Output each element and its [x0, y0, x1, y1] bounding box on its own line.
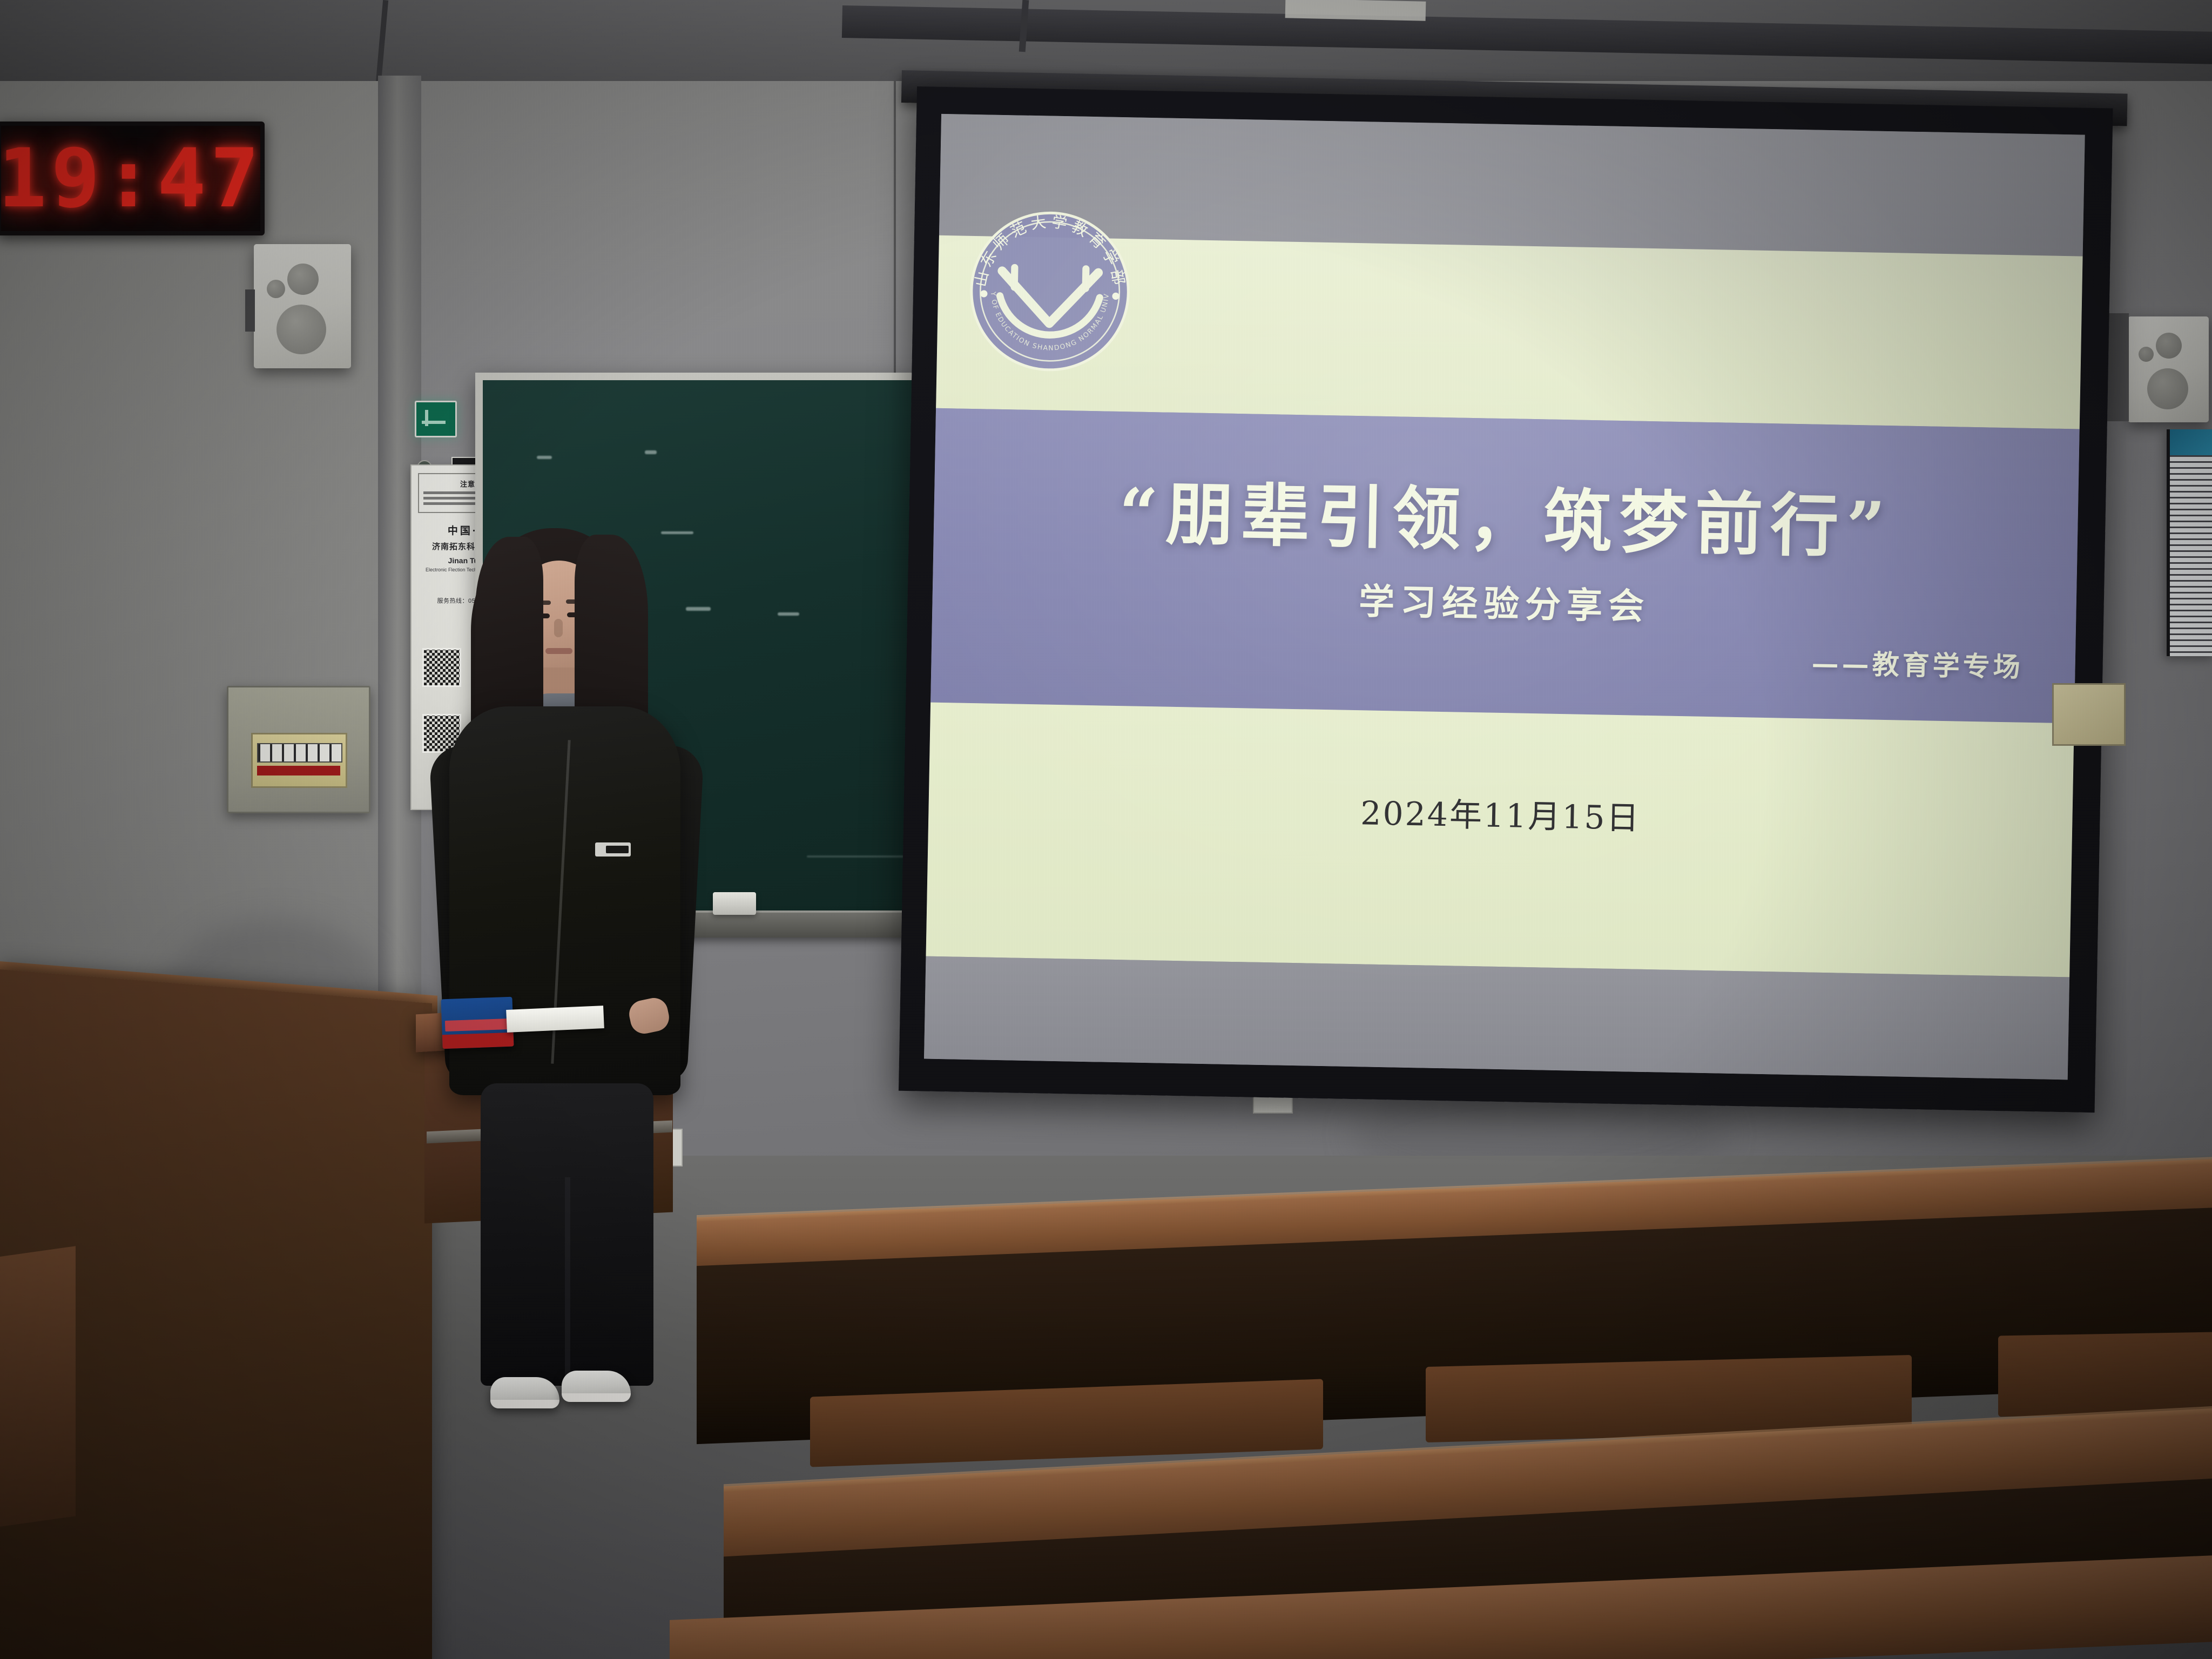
- chalk-mark: [807, 855, 904, 858]
- blue-red-box[interactable]: [441, 997, 514, 1049]
- chalk-mark: [645, 450, 657, 454]
- speaker-driver-woofer: [276, 305, 326, 354]
- breaker-window: [251, 733, 347, 788]
- presenter-mouth: [545, 648, 572, 654]
- speaker-bracket: [245, 289, 255, 332]
- projector-screen: 山东师范大学教育学部 FACULTY OF EDUCATION SHANDONG…: [899, 86, 2113, 1112]
- presenter-shoe-left: [490, 1377, 559, 1408]
- presenter-nose: [554, 619, 563, 637]
- slide-attribution: ——教育学专场: [1811, 642, 2024, 685]
- side-desk: [0, 1246, 76, 1529]
- speaker-driver-tweeter: [267, 280, 285, 298]
- trouser-seam: [565, 1177, 570, 1388]
- projected-slide: 山东师范大学教育学部 FACULTY OF EDUCATION SHANDONG…: [924, 114, 2085, 1080]
- notice-header-banner: [2170, 429, 2212, 455]
- digital-wall-clock: 19:47: [0, 122, 265, 235]
- speaker-driver-tweeter: [2139, 347, 2154, 362]
- breaker-label-strip: [257, 766, 340, 775]
- electrical-breaker-panel[interactable]: [227, 686, 370, 813]
- speech-notes[interactable]: [506, 1006, 604, 1033]
- notice-text-rows: [2170, 455, 2212, 654]
- jacket-brand-logo-icon: [595, 842, 631, 857]
- presenter-shoe-right: [562, 1371, 631, 1402]
- chalk-mark: [778, 612, 799, 616]
- speaker-driver-woofer: [2147, 368, 2188, 409]
- speaker-driver-mid: [2156, 333, 2182, 359]
- slide-band-gray-bottom: [924, 956, 2069, 1080]
- box-label-band: [445, 1019, 510, 1031]
- university-emblem-icon: 山东师范大学教育学部 FACULTY OF EDUCATION SHANDONG…: [959, 201, 1141, 382]
- classroom-photo: 19:47 注意事项 中国·济南 济南拓东科技有限公司 Jinan TuoDon…: [0, 0, 2212, 1659]
- shoe-sole: [562, 1393, 631, 1402]
- right-wall-notice-board: [2167, 429, 2212, 656]
- bench-back-row-1c[interactable]: [1998, 1332, 2212, 1417]
- wall-speaker-right: [2128, 316, 2209, 422]
- emergency-exit-icon: [415, 401, 457, 437]
- speaker-driver-mid: [287, 264, 319, 295]
- breaker-switch-row[interactable]: [257, 743, 342, 763]
- ceiling-light-panel: [1285, 0, 1426, 21]
- right-wall-equipment-plate: [2052, 683, 2126, 746]
- clock-time-display: 19:47: [0, 132, 264, 226]
- shoe-sole: [490, 1400, 559, 1408]
- wall-speaker-left: [254, 244, 351, 368]
- slide-main-title: “朋辈引领，筑梦前行”: [933, 455, 2079, 575]
- chalk-mark: [537, 456, 552, 459]
